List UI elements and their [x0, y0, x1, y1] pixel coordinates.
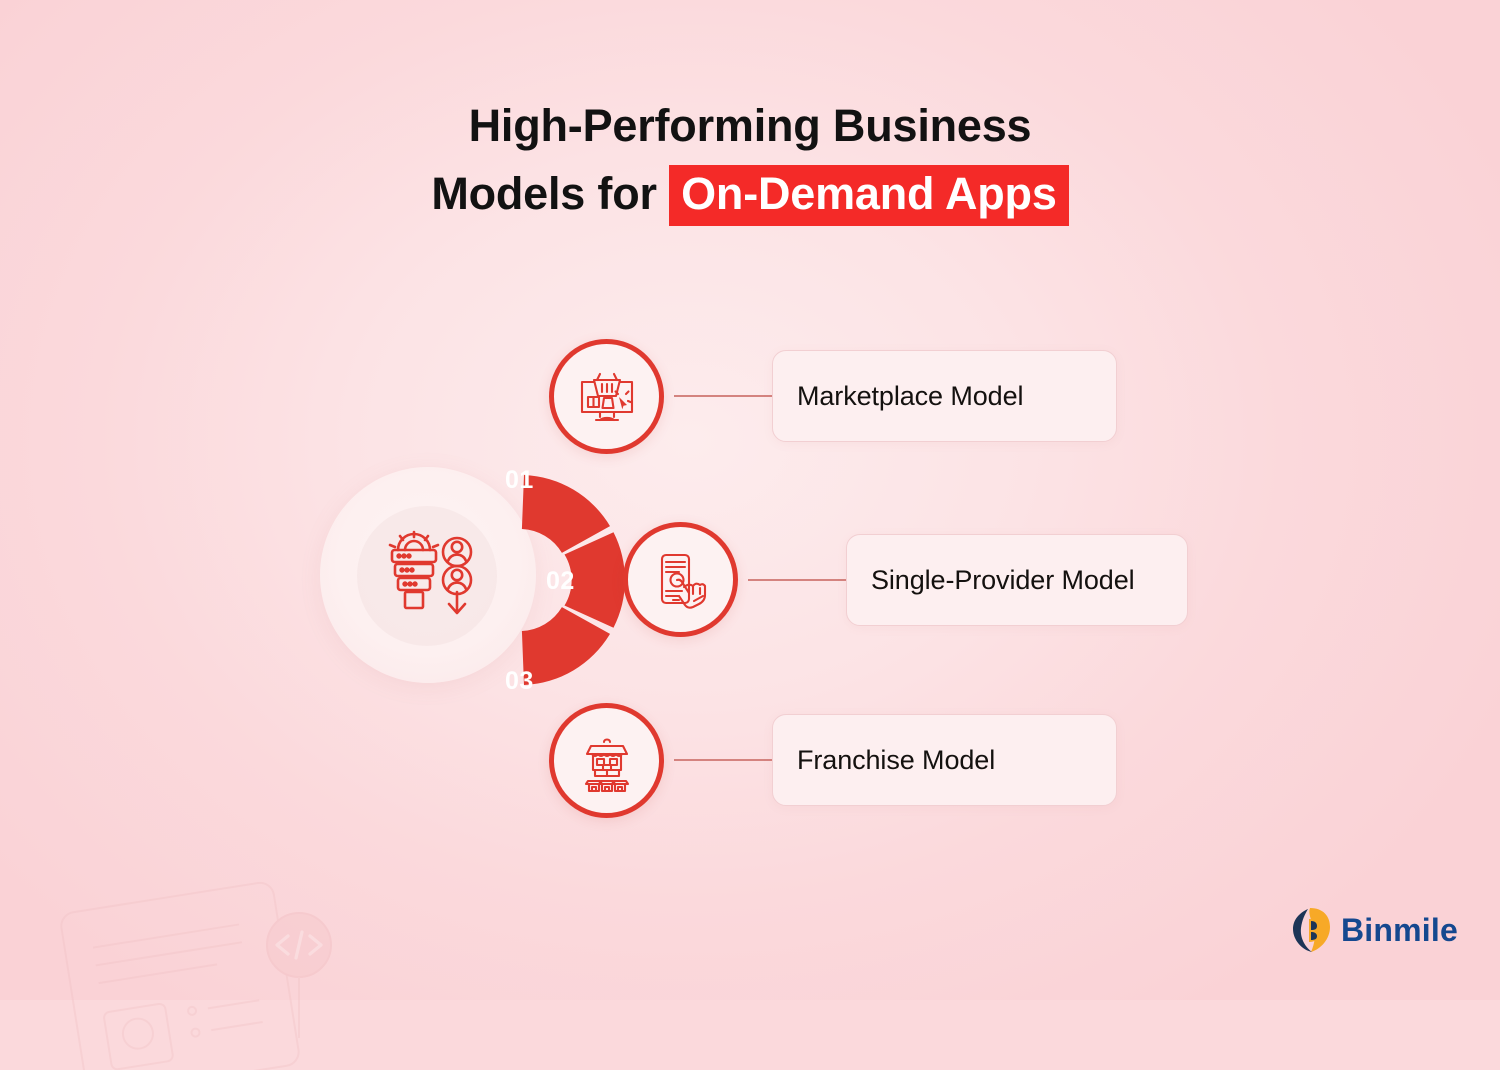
label-text-marketplace: Marketplace Model [797, 381, 1023, 412]
node-circle-franchise[interactable] [549, 703, 664, 818]
process-diagram: 01 02 03 [0, 0, 1500, 1000]
label-box-single-provider[interactable]: Single-Provider Model [846, 534, 1188, 626]
segment-number-01: 01 [505, 466, 534, 495]
label-text-franchise: Franchise Model [797, 745, 995, 776]
connector-line-2 [748, 579, 846, 581]
brand-name: Binmile [1341, 912, 1458, 949]
label-box-marketplace[interactable]: Marketplace Model [772, 350, 1117, 442]
node-circle-marketplace[interactable] [549, 339, 664, 454]
label-text-single-provider: Single-Provider Model [871, 565, 1135, 596]
connector-line-3 [674, 759, 772, 761]
infographic-canvas: High-Performing Business Models for On-D… [0, 0, 1500, 1000]
brand-logo: Binmile [1290, 906, 1458, 954]
marketplace-monitor-basket-icon [574, 364, 640, 430]
binmile-logo-mark [1290, 906, 1332, 954]
storefront-franchise-icon [574, 728, 640, 794]
segment-number-03: 03 [505, 667, 534, 696]
connector-line-1 [674, 395, 772, 397]
label-box-franchise[interactable]: Franchise Model [772, 714, 1117, 806]
mobile-tap-hand-icon [648, 547, 714, 613]
node-circle-single-provider[interactable] [623, 522, 738, 637]
segment-number-02: 02 [546, 567, 575, 596]
